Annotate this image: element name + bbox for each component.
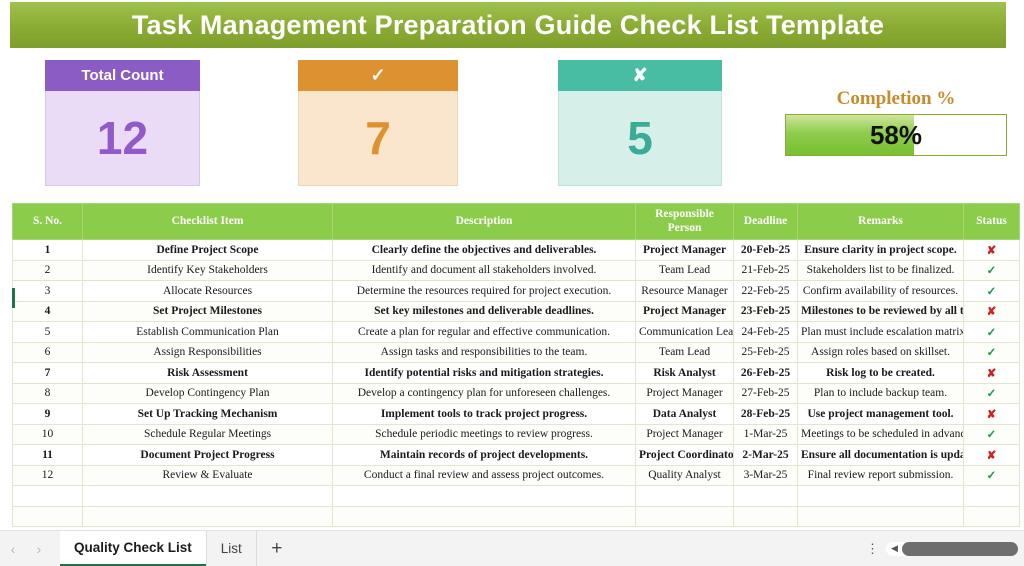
- completion-value: 58%: [786, 115, 1006, 155]
- cell-deadline[interactable]: 24-Feb-25: [734, 322, 798, 343]
- checklist-grid[interactable]: S. No. Checklist Item Description Respon…: [12, 203, 1003, 527]
- cell-deadline[interactable]: [734, 486, 798, 507]
- cell-sno[interactable]: 7: [13, 363, 83, 384]
- status-cross-icon[interactable]: ✘: [964, 301, 1020, 322]
- cell-status[interactable]: [964, 506, 1020, 527]
- sheet-title-banner: Task Management Preparation Guide Check …: [10, 2, 1006, 48]
- cell-description[interactable]: Develop a contingency plan for unforesee…: [333, 383, 636, 404]
- col-header-deadline[interactable]: Deadline: [734, 204, 798, 240]
- table-row[interactable]: 2Identify Key StakeholdersIdentify and d…: [13, 260, 1020, 281]
- cell-responsible-person[interactable]: Project Manager: [636, 240, 734, 261]
- cell-sno[interactable]: 10: [13, 424, 83, 445]
- cell-description[interactable]: Implement tools to track project progres…: [333, 404, 636, 425]
- table-row[interactable]: 11Document Project ProgressMaintain reco…: [13, 445, 1020, 466]
- table-row[interactable]: 10Schedule Regular MeetingsSchedule peri…: [13, 424, 1020, 445]
- cell-deadline[interactable]: 21-Feb-25: [734, 260, 798, 281]
- sheet-tab-bar: ‹ › Quality Check List List + ⋮ ◀: [0, 530, 1024, 566]
- spreadsheet-app: Task Management Preparation Guide Check …: [0, 0, 1024, 566]
- completion-widget: Completion % 58%: [785, 88, 1007, 158]
- cell-remarks[interactable]: Final review report submission.: [798, 465, 964, 486]
- table-row[interactable]: 3Allocate ResourcesDetermine the resourc…: [13, 281, 1020, 302]
- prev-sheet-arrow-icon[interactable]: ‹: [0, 541, 26, 557]
- cell-responsible-person[interactable]: Communication Lead: [636, 322, 734, 343]
- table-row[interactable]: 12Review & EvaluateConduct a final revie…: [13, 465, 1020, 486]
- cell-item[interactable]: [83, 486, 333, 507]
- cell-responsible-person[interactable]: [636, 506, 734, 527]
- kpi-card-pending: ✘ 5: [558, 60, 722, 186]
- table-row[interactable]: [13, 506, 1020, 527]
- status-check-icon[interactable]: ✓: [964, 260, 1020, 281]
- table-row[interactable]: 7Risk AssessmentIdentify potential risks…: [13, 363, 1020, 384]
- cell-sno[interactable]: 8: [13, 383, 83, 404]
- cell-sno[interactable]: 11: [13, 445, 83, 466]
- cell-description[interactable]: Identify and document all stakeholders i…: [333, 260, 636, 281]
- cell-sno[interactable]: 1: [13, 240, 83, 261]
- cell-sno[interactable]: [13, 506, 83, 527]
- col-header-remarks[interactable]: Remarks: [798, 204, 964, 240]
- cell-item[interactable]: Set Project Milestones: [83, 301, 333, 322]
- table-header-row: S. No. Checklist Item Description Respon…: [13, 204, 1020, 240]
- cell-item[interactable]: Review & Evaluate: [83, 465, 333, 486]
- table-row[interactable]: 5Establish Communication PlanCreate a pl…: [13, 322, 1020, 343]
- cell-deadline[interactable]: 20-Feb-25: [734, 240, 798, 261]
- status-check-icon[interactable]: ✓: [964, 322, 1020, 343]
- completion-progress-bar: 58%: [785, 114, 1007, 156]
- cell-responsible-person[interactable]: Data Analyst: [636, 404, 734, 425]
- cell-description[interactable]: Identify potential risks and mitigation …: [333, 363, 636, 384]
- kpi-pending-value: 5: [558, 91, 722, 186]
- cell-item[interactable]: Risk Assessment: [83, 363, 333, 384]
- kpi-total-count-label: Total Count: [45, 60, 200, 91]
- sheet-tab-list[interactable]: List: [206, 531, 257, 566]
- cell-remarks[interactable]: Ensure all documentation is updated.: [798, 445, 964, 466]
- cell-item[interactable]: Establish Communication Plan: [83, 322, 333, 343]
- cell-item[interactable]: Identify Key Stakeholders: [83, 260, 333, 281]
- cell-remarks[interactable]: Stakeholders list to be finalized.: [798, 260, 964, 281]
- cell-remarks[interactable]: [798, 506, 964, 527]
- tab-bar-right-controls: ⋮ ◀: [860, 531, 1024, 566]
- cell-remarks[interactable]: Assign roles based on skillset.: [798, 342, 964, 363]
- cell-sno[interactable]: 6: [13, 342, 83, 363]
- col-header-status[interactable]: Status: [964, 204, 1020, 240]
- cell-deadline[interactable]: [734, 506, 798, 527]
- cell-remarks[interactable]: Risk log to be created.: [798, 363, 964, 384]
- cell-item[interactable]: Schedule Regular Meetings: [83, 424, 333, 445]
- cell-responsible-person[interactable]: [636, 486, 734, 507]
- cell-remarks[interactable]: [798, 486, 964, 507]
- cell-status[interactable]: [964, 486, 1020, 507]
- cell-sno[interactable]: 3: [13, 281, 83, 302]
- add-sheet-icon[interactable]: +: [257, 538, 297, 560]
- cell-item[interactable]: Document Project Progress: [83, 445, 333, 466]
- kpi-total-count-value: 12: [45, 91, 200, 186]
- kpi-card-completed: ✓ 7: [298, 60, 458, 186]
- cell-item[interactable]: Set Up Tracking Mechanism: [83, 404, 333, 425]
- cell-description[interactable]: Assign tasks and responsibilities to the…: [333, 342, 636, 363]
- cell-sno[interactable]: 5: [13, 322, 83, 343]
- cell-remarks[interactable]: Use project management tool.: [798, 404, 964, 425]
- scrollbar-thumb[interactable]: [902, 542, 1018, 556]
- cell-deadline[interactable]: 28-Feb-25: [734, 404, 798, 425]
- status-cross-icon[interactable]: ✘: [964, 445, 1020, 466]
- col-header-desc[interactable]: Description: [333, 204, 636, 240]
- status-check-icon[interactable]: ✓: [964, 465, 1020, 486]
- cell-responsible-person[interactable]: Project Manager: [636, 424, 734, 445]
- cell-sno[interactable]: [13, 486, 83, 507]
- cell-description[interactable]: Conduct a final review and assess projec…: [333, 465, 636, 486]
- col-header-resp[interactable]: Responsible Person: [636, 204, 734, 240]
- kpi-completed-value: 7: [298, 91, 458, 186]
- kpi-card-total-count: Total Count 12: [45, 60, 200, 186]
- table-row[interactable]: 8Develop Contingency PlanDevelop a conti…: [13, 383, 1020, 404]
- cell-deadline[interactable]: 23-Feb-25: [734, 301, 798, 322]
- cell-remarks[interactable]: Milestones to be reviewed by all teams.: [798, 301, 964, 322]
- status-check-icon[interactable]: ✓: [964, 383, 1020, 404]
- cell-remarks[interactable]: Plan to include backup team.: [798, 383, 964, 404]
- status-check-icon[interactable]: ✓: [964, 342, 1020, 363]
- completion-label: Completion %: [785, 88, 1007, 110]
- col-header-sno[interactable]: S. No.: [13, 204, 83, 240]
- cell-sno[interactable]: 12: [13, 465, 83, 486]
- cell-sno[interactable]: 4: [13, 301, 83, 322]
- status-cross-icon[interactable]: ✘: [964, 404, 1020, 425]
- cell-sno[interactable]: 2: [13, 260, 83, 281]
- cell-description[interactable]: [333, 506, 636, 527]
- status-cross-icon[interactable]: ✘: [964, 240, 1020, 261]
- cell-item[interactable]: Develop Contingency Plan: [83, 383, 333, 404]
- cell-deadline[interactable]: 26-Feb-25: [734, 363, 798, 384]
- cell-responsible-person[interactable]: Project Manager: [636, 383, 734, 404]
- check-icon: ✓: [298, 60, 458, 91]
- checklist-table: S. No. Checklist Item Description Respon…: [12, 203, 1020, 527]
- cell-item[interactable]: Define Project Scope: [83, 240, 333, 261]
- page-title: Task Management Preparation Guide Check …: [132, 10, 884, 41]
- cell-description[interactable]: Schedule periodic meetings to review pro…: [333, 424, 636, 445]
- status-check-icon[interactable]: ✓: [964, 281, 1020, 302]
- cell-deadline[interactable]: 27-Feb-25: [734, 383, 798, 404]
- cell-description[interactable]: Determine the resources required for pro…: [333, 281, 636, 302]
- cell-description[interactable]: [333, 486, 636, 507]
- cell-responsible-person[interactable]: Risk Analyst: [636, 363, 734, 384]
- next-sheet-arrow-icon[interactable]: ›: [26, 541, 52, 557]
- sheet-tab-quality-check-list[interactable]: Quality Check List: [60, 531, 206, 566]
- cell-remarks[interactable]: Meetings to be scheduled in advance.: [798, 424, 964, 445]
- cell-deadline[interactable]: 2-Mar-25: [734, 445, 798, 466]
- cell-deadline[interactable]: 3-Mar-25: [734, 465, 798, 486]
- cell-item[interactable]: Assign Responsibilities: [83, 342, 333, 363]
- scroll-left-icon[interactable]: ◀: [891, 543, 898, 554]
- horizontal-scrollbar[interactable]: ◀: [886, 542, 1018, 556]
- cell-responsible-person[interactable]: Team Lead: [636, 260, 734, 281]
- table-body: 1Define Project ScopeClearly define the …: [13, 240, 1020, 527]
- table-row[interactable]: 1Define Project ScopeClearly define the …: [13, 240, 1020, 261]
- cell-item[interactable]: [83, 506, 333, 527]
- cell-description[interactable]: Create a plan for regular and effective …: [333, 322, 636, 343]
- cell-deadline[interactable]: 25-Feb-25: [734, 342, 798, 363]
- cell-sno[interactable]: 9: [13, 404, 83, 425]
- cell-deadline[interactable]: 22-Feb-25: [734, 281, 798, 302]
- cell-responsible-person[interactable]: Team Lead: [636, 342, 734, 363]
- more-options-icon[interactable]: ⋮: [860, 541, 886, 557]
- status-check-icon[interactable]: ✓: [964, 424, 1020, 445]
- cell-item[interactable]: Allocate Resources: [83, 281, 333, 302]
- cell-responsible-person[interactable]: Project Manager: [636, 301, 734, 322]
- cell-remarks[interactable]: Plan must include escalation matrix.: [798, 322, 964, 343]
- table-row[interactable]: 4Set Project MilestonesSet key milestone…: [13, 301, 1020, 322]
- cell-remarks[interactable]: Confirm availability of resources.: [798, 281, 964, 302]
- cell-description[interactable]: Clearly define the objectives and delive…: [333, 240, 636, 261]
- cell-description[interactable]: Set key milestones and deliverable deadl…: [333, 301, 636, 322]
- cross-icon: ✘: [558, 60, 722, 91]
- cell-responsible-person[interactable]: Quality Analyst: [636, 465, 734, 486]
- table-row[interactable]: 9Set Up Tracking MechanismImplement tool…: [13, 404, 1020, 425]
- cell-deadline[interactable]: 1-Mar-25: [734, 424, 798, 445]
- active-row-marker: [12, 288, 15, 308]
- table-row[interactable]: 6Assign ResponsibilitiesAssign tasks and…: [13, 342, 1020, 363]
- status-cross-icon[interactable]: ✘: [964, 363, 1020, 384]
- cell-description[interactable]: Maintain records of project developments…: [333, 445, 636, 466]
- table-row[interactable]: [13, 486, 1020, 507]
- cell-remarks[interactable]: Ensure clarity in project scope.: [798, 240, 964, 261]
- cell-responsible-person[interactable]: Resource Manager: [636, 281, 734, 302]
- col-header-item[interactable]: Checklist Item: [83, 204, 333, 240]
- cell-responsible-person[interactable]: Project Coordinator: [636, 445, 734, 466]
